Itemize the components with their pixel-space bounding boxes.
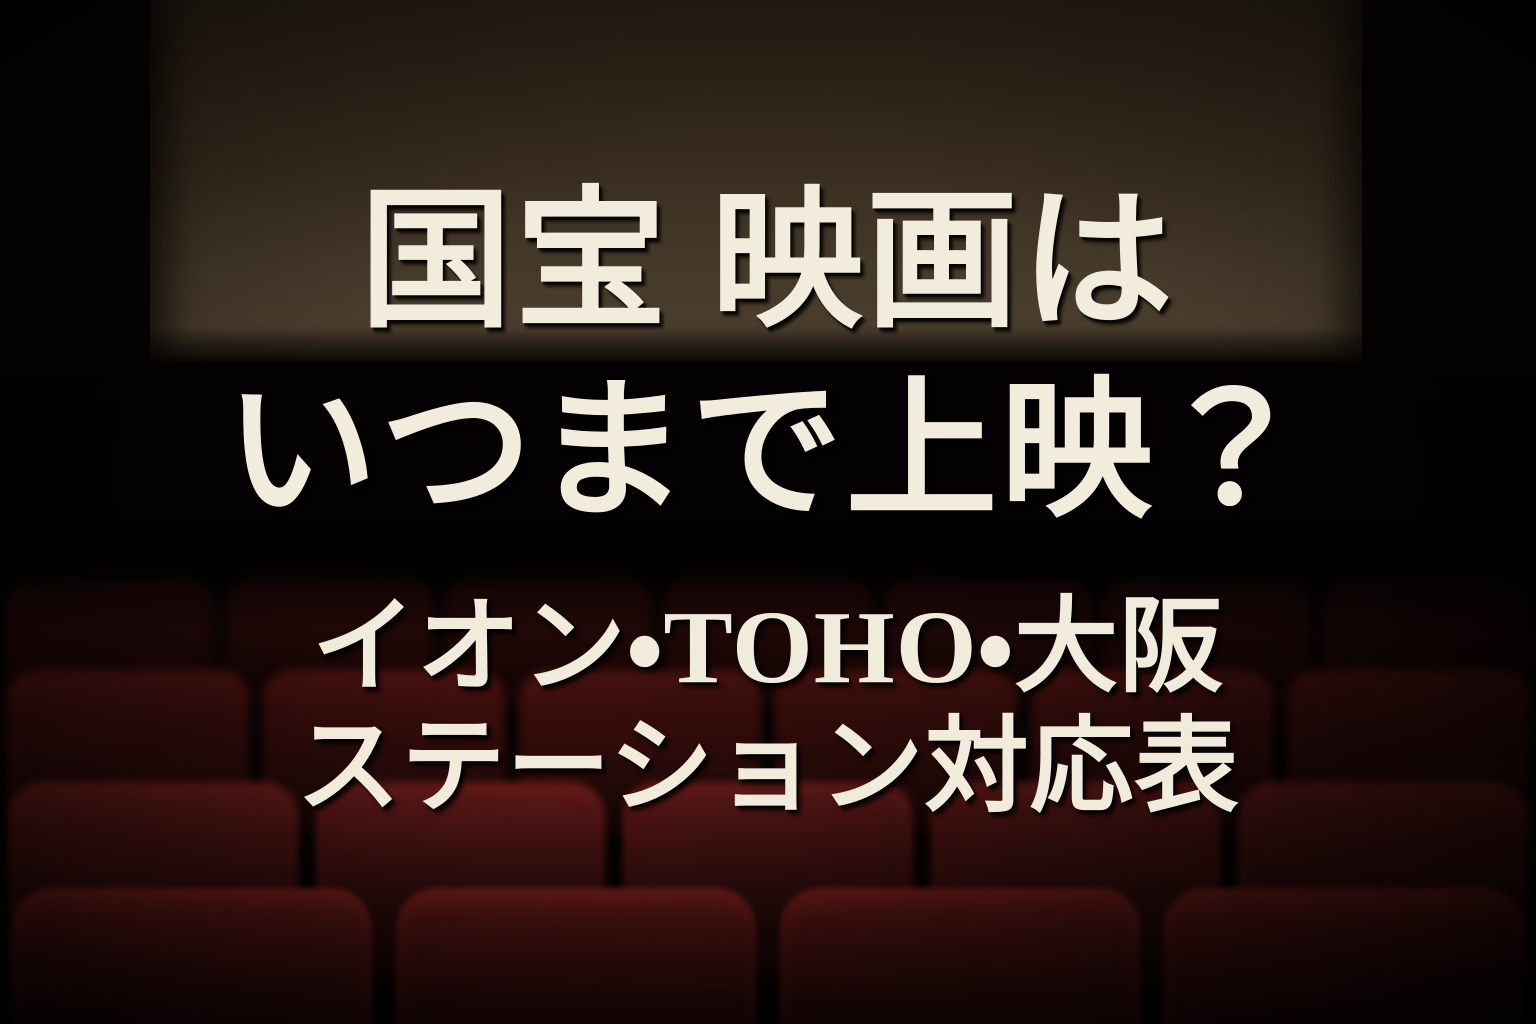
subtitle-line-1: イオン・TOHO・大阪 [0,596,1536,700]
headline-line-1: 国宝 映画は [0,186,1536,338]
seat [1164,888,1524,1024]
title-card: 国宝 映画は いつまで上映？ イオン・TOHO・大阪 ステーション対応表 [0,0,1536,1024]
seat [396,888,756,1024]
seat-row-front [0,888,1536,1024]
subtitle-line-2: ステーション対応表 [0,716,1536,820]
seat [12,888,372,1024]
headline-line-2: いつまで上映？ [0,376,1536,528]
seat [780,888,1140,1024]
